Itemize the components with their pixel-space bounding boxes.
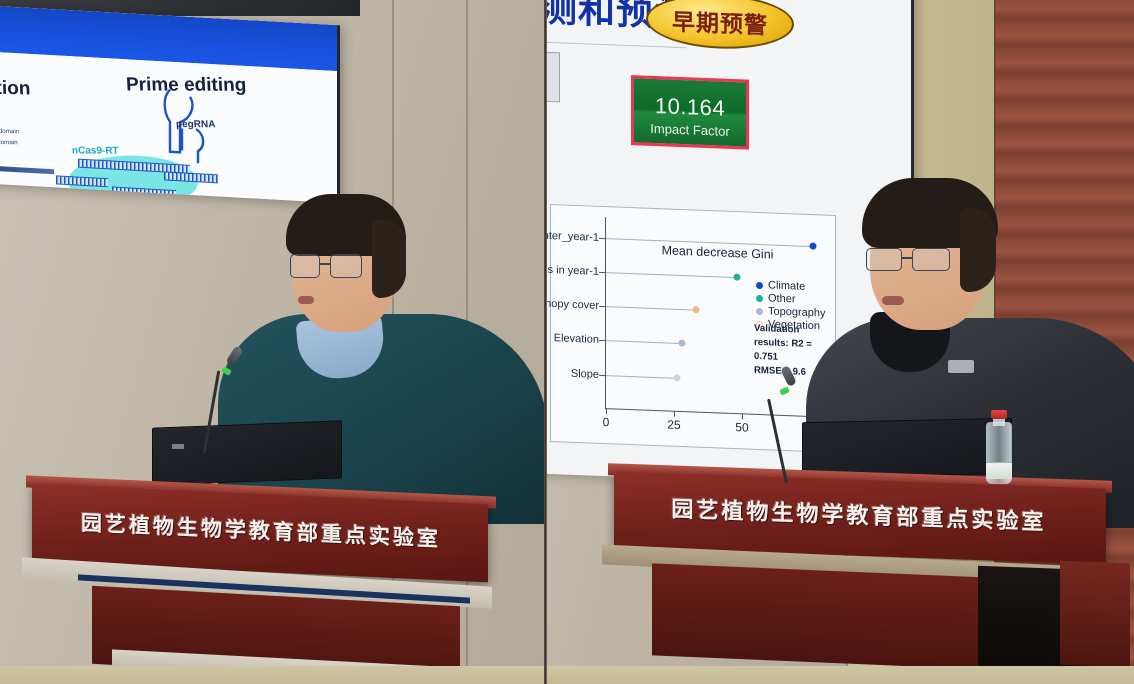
floor-band-left <box>0 666 546 684</box>
chart-legend-swatch <box>756 294 763 301</box>
chart-y-tick-label: inter_year-1 <box>546 230 606 245</box>
chart-legend-swatch <box>756 307 763 314</box>
chart-connector <box>606 375 677 379</box>
chart-x-tick-label: 25 <box>667 418 680 433</box>
glasses <box>290 254 382 280</box>
panel-divider <box>544 0 547 684</box>
impact-factor-value: 10.164 <box>634 92 746 122</box>
water-bottle[interactable] <box>986 410 1016 492</box>
chart-data-point <box>692 306 699 313</box>
chart-legend-label: Topography <box>768 305 826 319</box>
left-photo: editing egulation Prime editing Suppress… <box>0 0 546 684</box>
microphone-right <box>758 352 828 482</box>
glasses <box>866 248 970 274</box>
chart-legend-label: Other <box>768 292 796 305</box>
chart-y-tick-label: anopy cover <box>546 298 606 313</box>
early-warning-badge: 早期预警 <box>646 0 794 51</box>
ncas9-rt-label: nCas9-RT <box>72 145 119 156</box>
microphone-left <box>196 330 256 450</box>
chart-connector <box>606 272 737 278</box>
impact-factor-label: Impact Factor <box>634 120 746 139</box>
chart-data-point <box>679 340 686 347</box>
chart-x-tick-label: 50 <box>735 420 748 435</box>
chart-data-point <box>733 274 740 281</box>
projection-screen-left: editing egulation Prime editing Suppress… <box>0 4 340 203</box>
bottle-cap <box>991 410 1007 419</box>
podium-nameplate: 园艺植物生物学教育部重点实验室 <box>632 484 1086 544</box>
chart-x-axis-title: Mean decrease Gini <box>662 243 774 261</box>
slide-heading-left: egulation <box>0 77 31 101</box>
pegrna-label: pegRNA <box>176 119 216 130</box>
north-face-logo <box>948 360 974 373</box>
slide-body: egulation Prime editing Suppression doma… <box>0 50 337 203</box>
chart-data-point <box>673 374 680 381</box>
podium-nameplate: 园艺植物生物学教育部重点实验室 <box>54 499 468 562</box>
photo-composite: editing egulation Prime editing Suppress… <box>0 0 1134 684</box>
mouth <box>298 296 314 304</box>
chart-x-tick <box>742 413 743 419</box>
thinkpad-logo <box>172 444 184 449</box>
chart-y-tick-label: Elevation <box>554 333 606 347</box>
slide-rule <box>546 40 686 48</box>
mouth <box>882 296 904 305</box>
chart-legend-swatch <box>756 281 763 288</box>
podium-right: 园艺植物生物学教育部重点实验室 <box>608 472 1128 684</box>
chart-y-tick-label: Slope <box>571 367 606 380</box>
gene-construct-diagram <box>0 154 62 180</box>
chart-x-tick <box>606 408 607 414</box>
chart-connector <box>606 341 682 345</box>
chart-data-point <box>809 243 816 250</box>
chart-connector <box>606 307 696 311</box>
podium-left: 园艺植物生物学教育部重点实验室 <box>26 486 506 684</box>
annotation-suppression-domain: Suppression domain <box>0 127 20 135</box>
instrument-thumbnail <box>546 50 560 102</box>
chart-x-tick <box>674 411 675 417</box>
floor-band-right <box>546 666 1134 684</box>
impact-factor-card: 10.164 Impact Factor <box>631 75 749 150</box>
bottle-label <box>986 462 1012 479</box>
right-photo: 监测和预测 早期预警 10.164 Impact Factor inter_ye… <box>546 0 1134 684</box>
dna-strand <box>56 175 108 187</box>
chart-y-tick-label: es in year-1 <box>546 264 606 278</box>
annotation-activation-domain: Activation domain <box>0 138 18 146</box>
chart-x-tick-label: 0 <box>603 415 610 429</box>
chart-legend-label: Climate <box>768 279 805 292</box>
badge-label: 早期预警 <box>672 3 768 41</box>
